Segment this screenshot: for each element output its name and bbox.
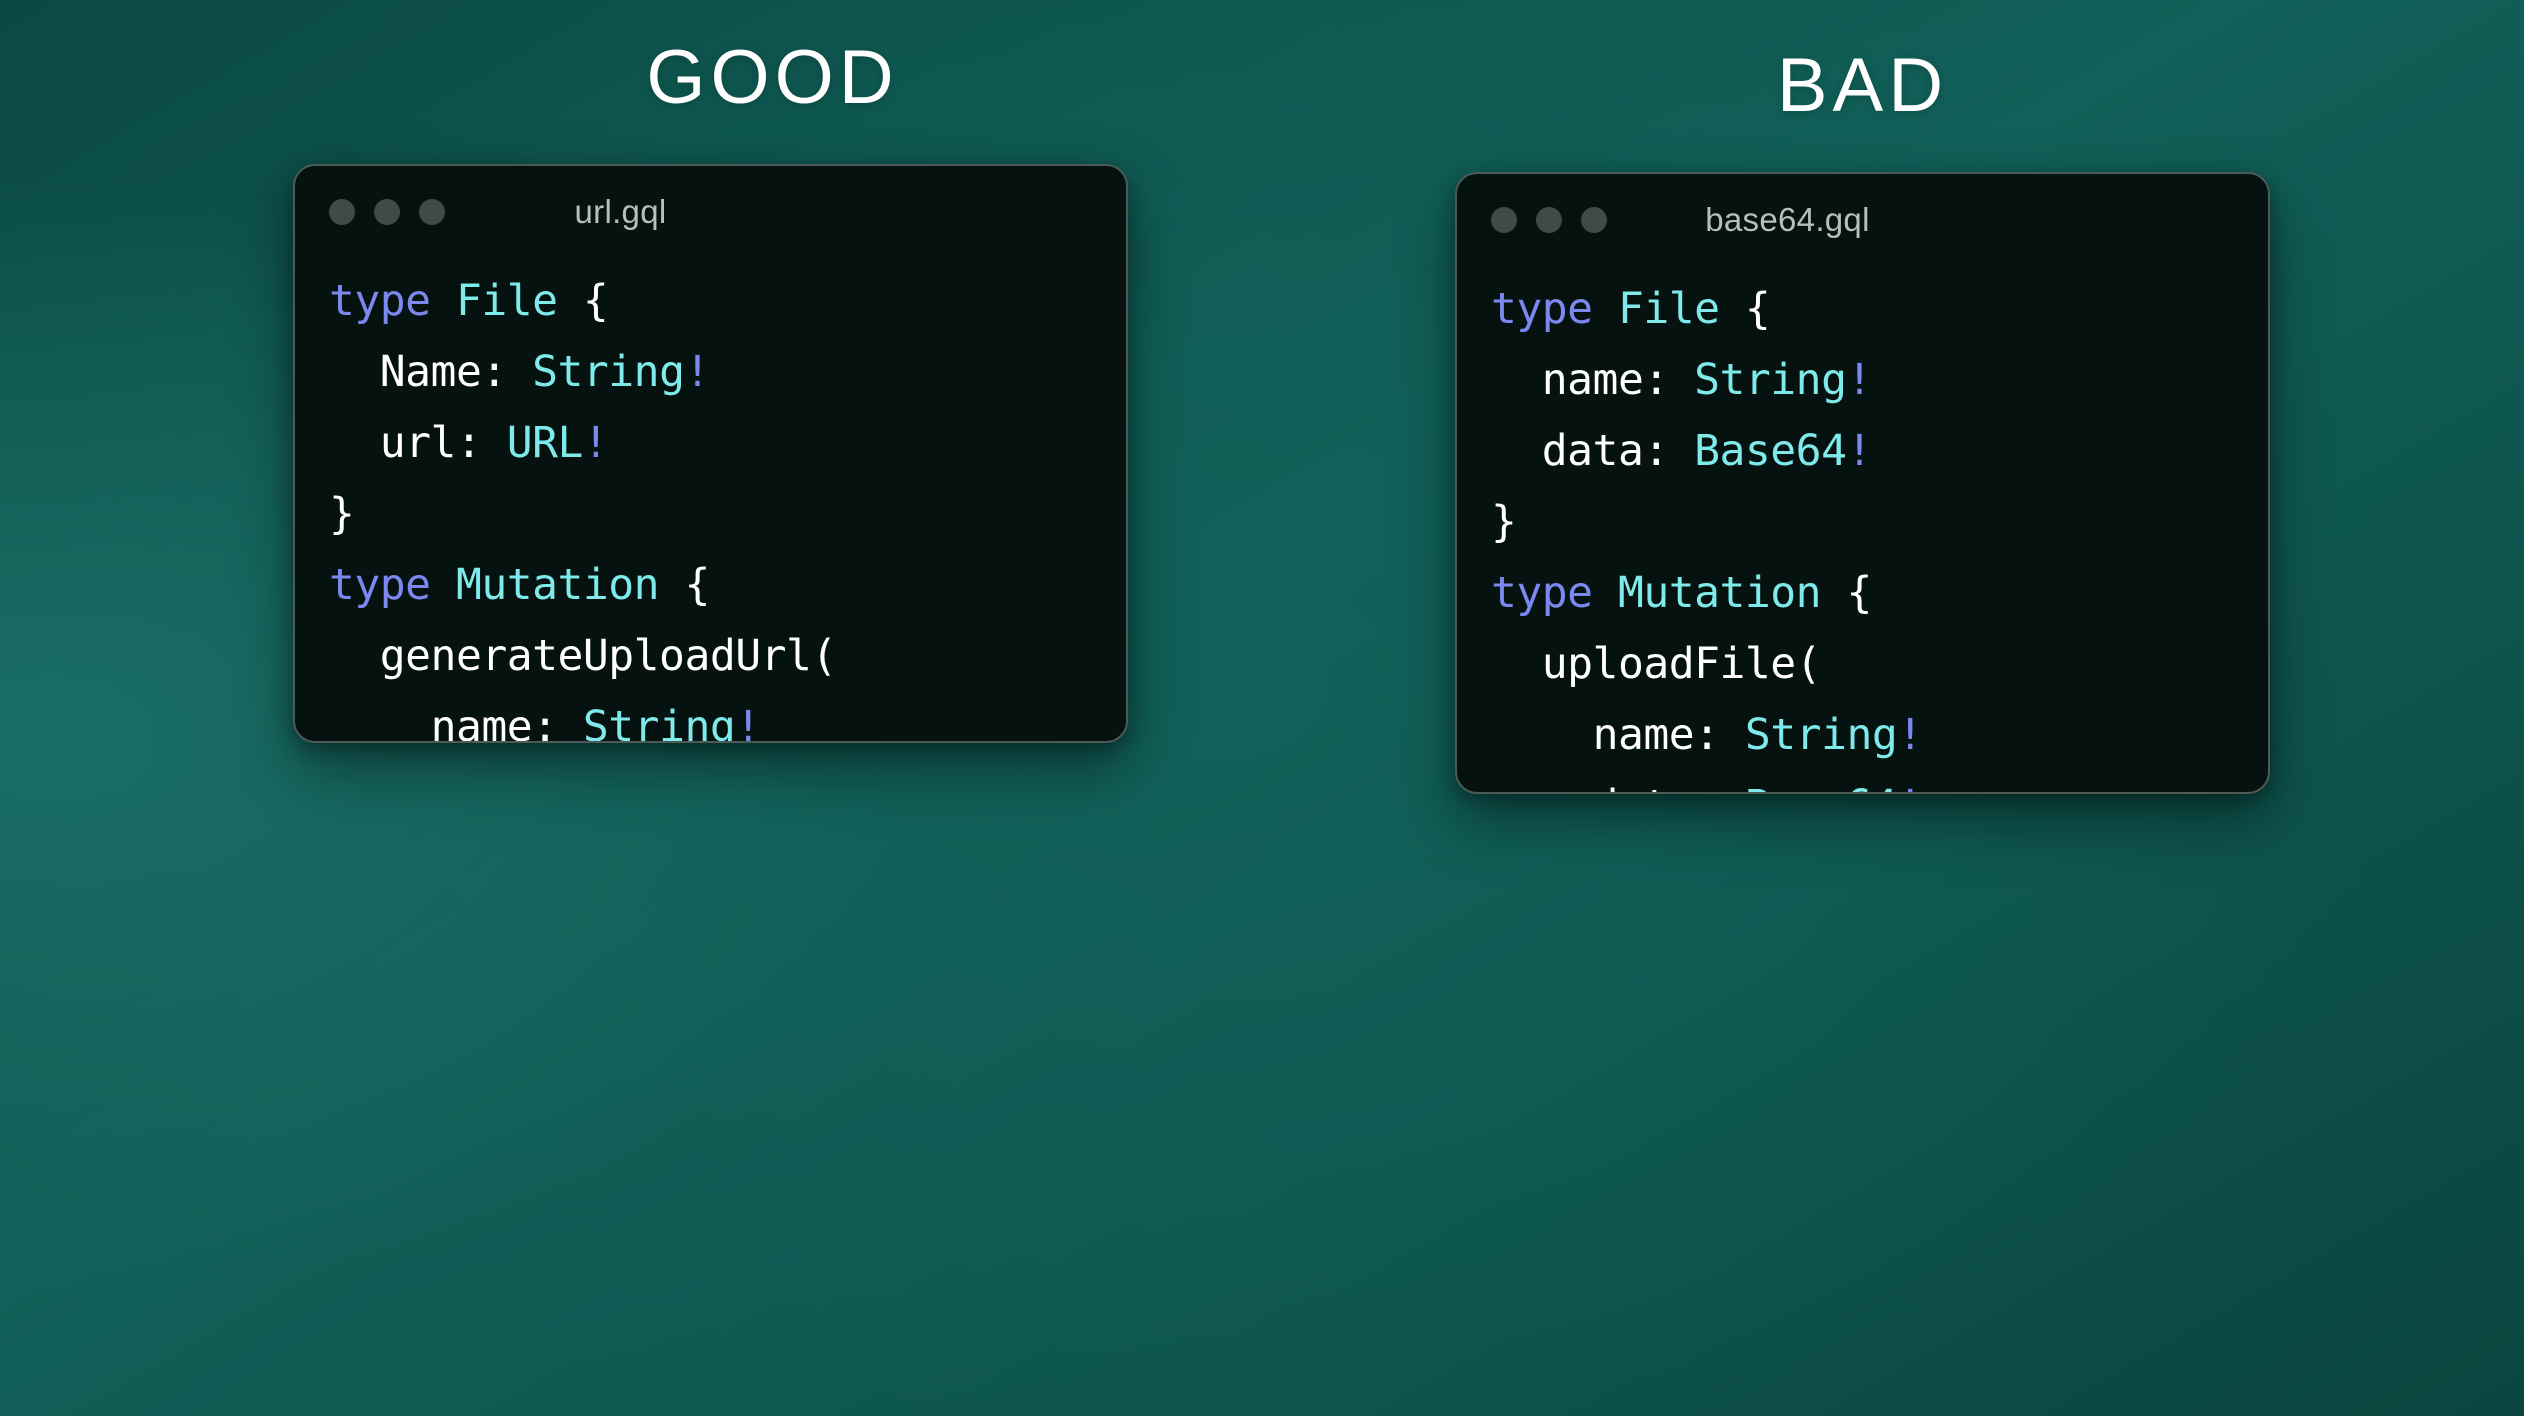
- code-token-plain: url:: [380, 418, 507, 468]
- code-token-bang: !: [1897, 710, 1922, 760]
- code-token-type: File: [1618, 284, 1720, 334]
- window-titlebar-good: url.gql: [295, 166, 1126, 258]
- code-token-plain: uploadFile(: [1542, 639, 1821, 689]
- window-maximize-dot[interactable]: [1581, 207, 1607, 233]
- comparison-stage: GOOD url.gql type File { Name: String! u…: [0, 0, 2524, 1416]
- code-token-plain: {: [1821, 568, 1872, 618]
- code-token-plain: }: [1491, 497, 1516, 547]
- code-token-type: String: [583, 702, 735, 743]
- code-line: Name: String!: [329, 337, 1126, 408]
- code-token-type: String: [1745, 710, 1897, 760]
- code-token-bang: !: [1846, 426, 1871, 476]
- code-line: name: String!: [1491, 345, 2268, 416]
- traffic-lights-good: [329, 199, 445, 225]
- code-token-plain: {: [659, 560, 710, 610]
- code-token-plain: Name:: [380, 347, 532, 397]
- code-line: }: [1491, 487, 2268, 558]
- window-minimize-dot[interactable]: [374, 199, 400, 225]
- code-window-good: url.gql type File { Name: String! url: U…: [293, 164, 1128, 743]
- window-minimize-dot[interactable]: [1536, 207, 1562, 233]
- code-block-bad: type File { name: String! data: Base64!}…: [1457, 266, 2268, 794]
- panel-heading-good: GOOD: [417, 40, 1128, 116]
- code-token-plain: }: [329, 489, 354, 539]
- code-token-plain: generateUploadUrl(: [380, 631, 837, 681]
- panel-heading-bad: BAD: [1455, 48, 2270, 124]
- code-token-plain: name:: [431, 702, 583, 743]
- window-close-dot[interactable]: [329, 199, 355, 225]
- code-token-bang: !: [684, 347, 709, 397]
- code-line: name: String!: [1491, 700, 2268, 771]
- code-token-plain: name:: [1593, 710, 1745, 760]
- code-token-bang: !: [1846, 355, 1871, 405]
- code-token-plain: data:: [1593, 781, 1745, 794]
- code-token-keyword: type: [329, 560, 431, 610]
- code-line: generateUploadUrl(: [329, 621, 1126, 692]
- code-token-plain: data:: [1542, 426, 1694, 476]
- window-titlebar-bad: base64.gql: [1457, 174, 2268, 266]
- code-token-type: File: [456, 276, 558, 326]
- code-line: uploadFile(: [1491, 629, 2268, 700]
- code-token-bang: !: [1897, 781, 1922, 794]
- code-block-good: type File { Name: String! url: URL!}type…: [295, 258, 1126, 743]
- code-line: url: URL!: [329, 408, 1126, 479]
- code-line: type Mutation {: [329, 550, 1126, 621]
- panel-bad: BAD base64.gql type File { name: String!…: [1455, 48, 2270, 794]
- code-token-type: Base64: [1694, 426, 1846, 476]
- code-token-type: Mutation: [456, 560, 659, 610]
- code-token-type: String: [532, 347, 684, 397]
- code-token-type: Mutation: [1618, 568, 1821, 618]
- code-line: type File {: [1491, 274, 2268, 345]
- code-token-plain: [431, 560, 456, 610]
- code-line: }: [329, 479, 1126, 550]
- traffic-lights-bad: [1491, 207, 1607, 233]
- code-line: type Mutation {: [1491, 558, 2268, 629]
- code-line: data: Base64!: [1491, 771, 2268, 794]
- code-token-plain: name:: [1542, 355, 1694, 405]
- code-line: type File {: [329, 266, 1126, 337]
- code-token-plain: [1593, 284, 1618, 334]
- code-line: name: String!: [329, 692, 1126, 743]
- panel-good: GOOD url.gql type File { Name: String! u…: [293, 40, 1128, 743]
- code-token-plain: {: [558, 276, 609, 326]
- code-token-plain: [1593, 568, 1618, 618]
- code-token-plain: [431, 276, 456, 326]
- code-token-type: Base64: [1745, 781, 1897, 794]
- code-token-type: String: [1694, 355, 1846, 405]
- window-maximize-dot[interactable]: [419, 199, 445, 225]
- code-token-keyword: type: [1491, 284, 1593, 334]
- code-token-bang: !: [583, 418, 608, 468]
- code-token-type: URL: [507, 418, 583, 468]
- code-token-keyword: type: [1491, 568, 1593, 618]
- code-token-keyword: type: [329, 276, 431, 326]
- window-close-dot[interactable]: [1491, 207, 1517, 233]
- code-token-bang: !: [735, 702, 760, 743]
- code-line: data: Base64!: [1491, 416, 2268, 487]
- code-token-plain: {: [1720, 284, 1771, 334]
- code-window-bad: base64.gql type File { name: String! dat…: [1455, 172, 2270, 794]
